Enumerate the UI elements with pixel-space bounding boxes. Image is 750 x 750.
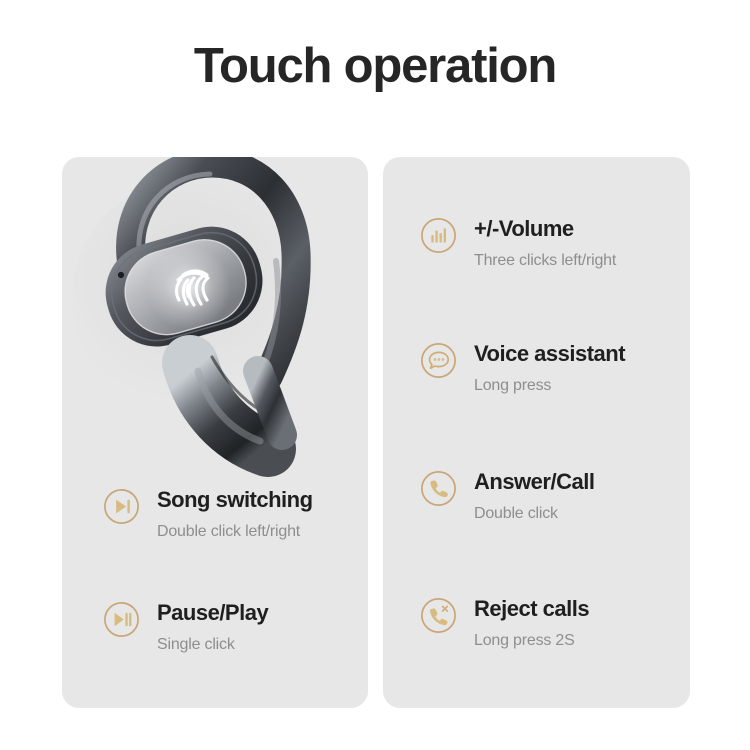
feature-subtitle: Long press bbox=[474, 376, 625, 395]
feature-title: Song switching bbox=[157, 487, 313, 513]
feature-text: +/-Volume Three clicks left/right bbox=[474, 216, 616, 270]
feature-subtitle: Long press 2S bbox=[474, 631, 589, 650]
phone-reject-icon bbox=[420, 597, 457, 634]
speech-bubble-icon bbox=[420, 342, 457, 379]
feature-title: Reject calls bbox=[474, 596, 589, 622]
next-track-icon bbox=[103, 488, 140, 525]
feature-text: Pause/Play Single click bbox=[157, 600, 268, 654]
feature-text: Answer/Call Double click bbox=[474, 469, 594, 523]
feature-voice-assistant[interactable]: Voice assistant Long press bbox=[420, 341, 625, 395]
feature-title: Pause/Play bbox=[157, 600, 268, 626]
feature-subtitle: Double click bbox=[474, 504, 594, 523]
volume-bars-icon bbox=[420, 217, 457, 254]
feature-text: Song switching Double click left/right bbox=[157, 487, 313, 541]
page-title: Touch operation bbox=[0, 36, 750, 96]
play-pause-icon bbox=[103, 601, 140, 638]
phone-handset-icon bbox=[420, 470, 457, 507]
feature-title: Answer/Call bbox=[474, 469, 594, 495]
feature-text: Reject calls Long press 2S bbox=[474, 596, 589, 650]
feature-subtitle: Double click left/right bbox=[157, 522, 313, 541]
feature-text: Voice assistant Long press bbox=[474, 341, 625, 395]
feature-subtitle: Three clicks left/right bbox=[474, 251, 616, 270]
feature-reject-calls[interactable]: Reject calls Long press 2S bbox=[420, 596, 589, 650]
feature-pause-play[interactable]: Pause/Play Single click bbox=[103, 600, 268, 654]
feature-answer-call[interactable]: Answer/Call Double click bbox=[420, 469, 594, 523]
feature-song-switching[interactable]: Song switching Double click left/right bbox=[103, 487, 313, 541]
feature-subtitle: Single click bbox=[157, 635, 268, 654]
feature-title: +/-Volume bbox=[474, 216, 616, 242]
feature-volume[interactable]: +/-Volume Three clicks left/right bbox=[420, 216, 616, 270]
infographic-page: Touch operation bbox=[0, 0, 750, 750]
feature-title: Voice assistant bbox=[474, 341, 625, 367]
product-image bbox=[62, 157, 368, 477]
